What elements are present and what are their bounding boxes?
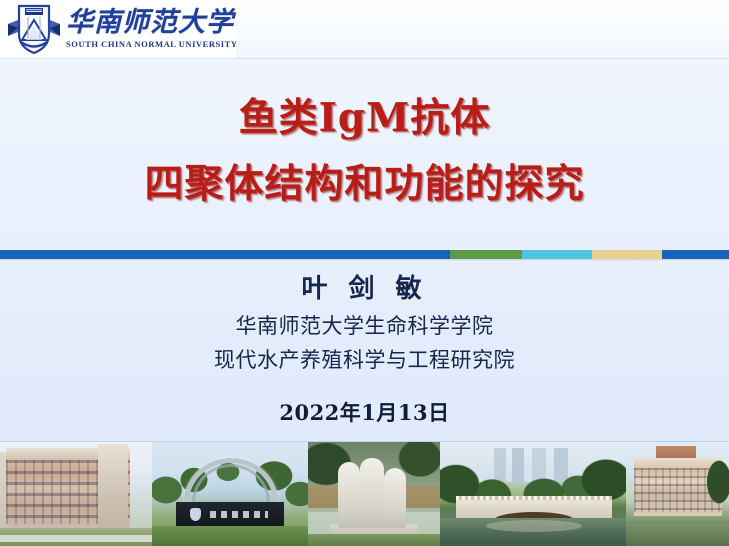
header-divider-line xyxy=(0,58,729,59)
divider-segment-blue-left xyxy=(0,250,450,259)
campus-gate-arch-photo xyxy=(152,442,308,546)
institution-name-en: SOUTH CHINA NORMAL UNIVERSITY xyxy=(66,39,238,50)
university-logo: 华南师范大学 SOUTH CHINA NORMAL UNIVERSITY xyxy=(0,0,236,58)
author-block: 叶 剑 敏 华南师范大学生命科学学院 现代水产养殖科学与工程研究院 2022年1… xyxy=(0,272,729,428)
campus-statues-photo xyxy=(308,442,440,546)
university-wordmark: 华南师范大学 SOUTH CHINA NORMAL UNIVERSITY xyxy=(66,2,238,56)
color-divider-band xyxy=(0,250,729,259)
university-crest-icon xyxy=(6,2,62,56)
divider-segment-blue-right xyxy=(662,250,729,259)
presentation-date: 2022年1月13日 xyxy=(0,398,729,428)
divider-segment-green xyxy=(450,250,522,259)
campus-photo-strip xyxy=(0,441,729,546)
main-building-photo xyxy=(626,442,729,546)
stone-bridge-lake-photo xyxy=(440,442,626,546)
header-band: 华南师范大学 SOUTH CHINA NORMAL UNIVERSITY xyxy=(0,0,729,58)
teaching-building-photo xyxy=(0,442,152,546)
divider-segment-cyan xyxy=(522,250,592,259)
author-name: 叶 剑 敏 xyxy=(0,272,729,306)
title-line-2: 四聚体结构和功能的探究 xyxy=(0,158,729,210)
title-block: 鱼类IgM抗体 四聚体结构和功能的探究 xyxy=(0,92,729,210)
institution-name-cn: 华南师范大学 xyxy=(66,8,238,38)
presentation-title-slide: 华南师范大学 SOUTH CHINA NORMAL UNIVERSITY 鱼类I… xyxy=(0,0,729,546)
affiliation-line-2: 现代水产养殖科学与工程研究院 xyxy=(0,344,729,376)
title-line-1: 鱼类IgM抗体 xyxy=(0,92,729,144)
divider-segment-tan xyxy=(592,250,662,259)
affiliation-line-1: 华南师范大学生命科学学院 xyxy=(0,310,729,342)
divider-shadow xyxy=(0,259,729,261)
